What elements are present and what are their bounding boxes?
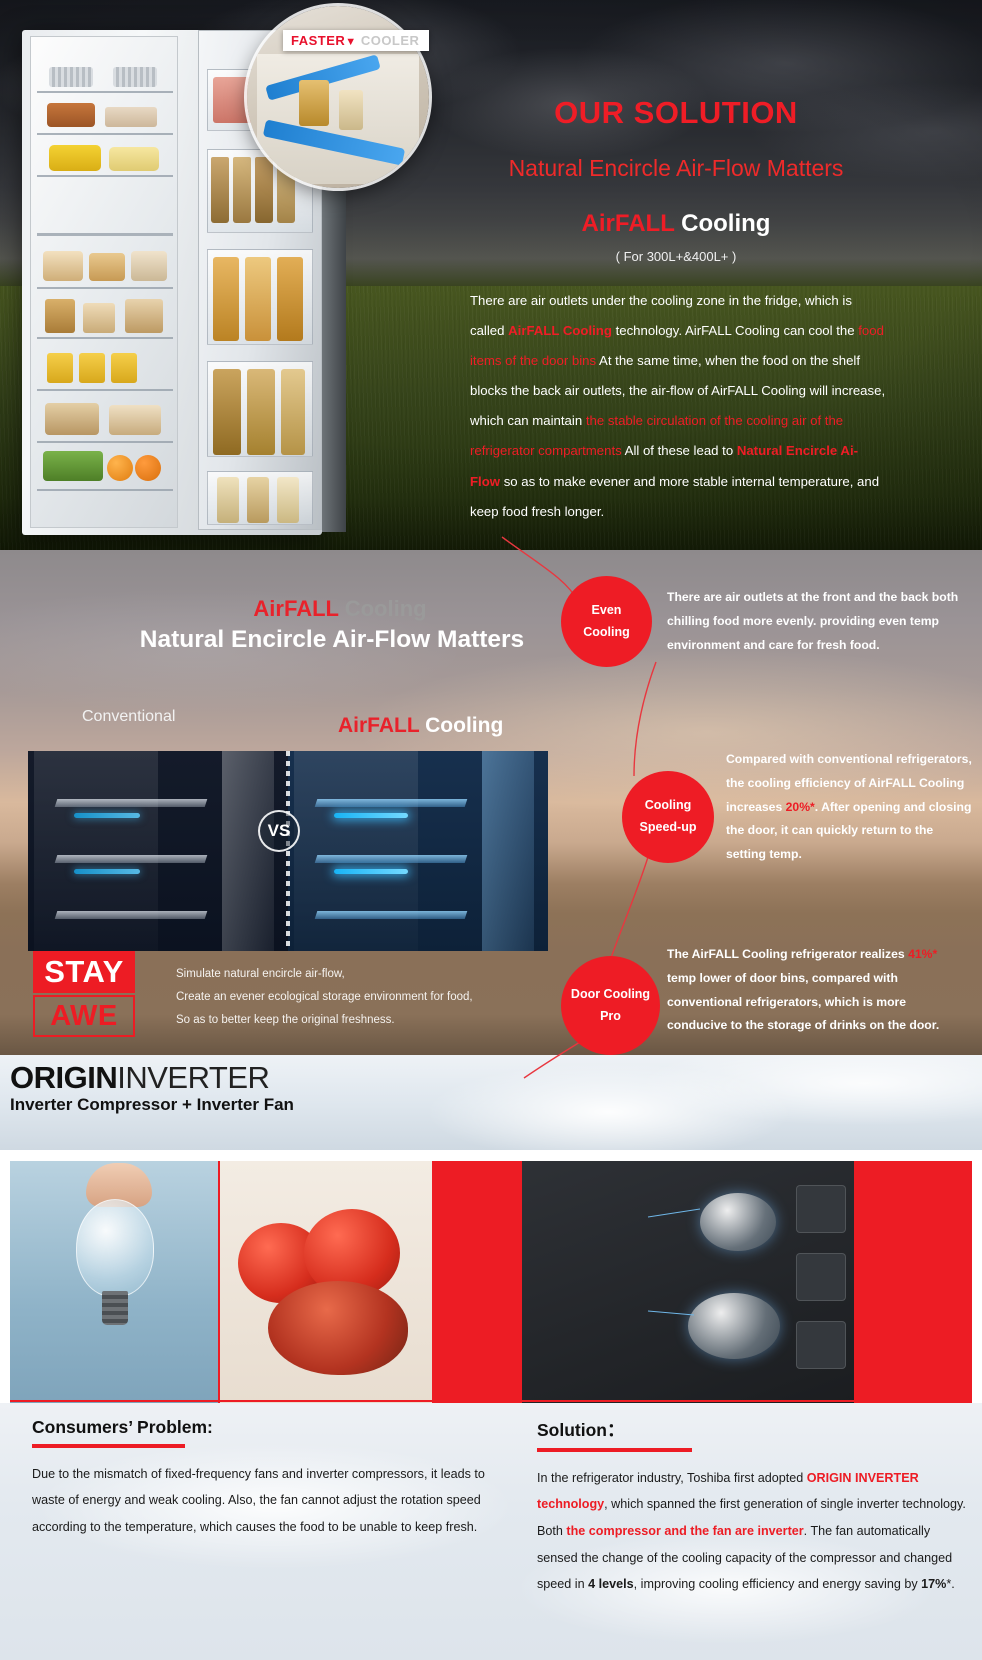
airfall-word: AirFALL: [582, 210, 675, 237]
connector-lines-diagram: [642, 1191, 782, 1351]
cooling-word: Cooling: [681, 210, 770, 237]
para-part-2: technology. AirFALL Cooling can cool the: [612, 323, 858, 338]
bottom-text-band: Consumers’ Problem: Due to the mismatch …: [0, 1403, 982, 1660]
section2-airfall-word: AirFALL: [253, 596, 338, 621]
photo-inverter-diagram: [522, 1161, 854, 1403]
stay-badge: STAY: [33, 951, 135, 993]
simulate-description: Simulate natural encircle air-flow, Crea…: [176, 963, 506, 1032]
solution-paragraph: There are air outlets under the cooling …: [470, 286, 888, 527]
red-divider-left: [434, 1161, 522, 1403]
bulb-base: [102, 1291, 128, 1325]
badge-faster-text: FASTER: [291, 33, 345, 48]
text-cooling-speedup: Compared with conventional refrigerators…: [726, 748, 976, 867]
text-door-cooling-pro: The AirFALL Cooling refrigerator realize…: [667, 943, 967, 1038]
consumers-problem-heading: Consumers’ Problem:: [32, 1417, 492, 1438]
sol-bold-2: 17%: [921, 1577, 946, 1591]
sim-line-2: Create an evener ecological storage envi…: [176, 986, 506, 1009]
solution-heading: Solution：: [537, 1417, 967, 1442]
section1-text-column: OUR SOLUTION Natural Encircle Air-Flow M…: [470, 95, 970, 527]
bubble-speed-line2: Speed-up: [640, 817, 697, 839]
photo-strip: [10, 1161, 972, 1403]
sol-part-1: In the refrigerator industry, Toshiba fi…: [537, 1471, 807, 1485]
bulb-glass: [76, 1199, 154, 1297]
bubble-door-line1: Door Cooling: [571, 984, 650, 1006]
section2-cooling-word: Cooling: [345, 596, 427, 621]
door-text-post: temp lower of door bins, compared with c…: [667, 971, 939, 1033]
section2-brand-line: AirFALL Cooling: [130, 596, 550, 622]
section-our-solution: FASTER▼ COOLER OUR SOLUTION Natural Enci…: [0, 0, 982, 550]
heading-underline-right: [537, 1448, 692, 1452]
sim-line-1: Simulate natural encircle air-flow,: [176, 963, 506, 986]
consumers-problem-body: Due to the mismatch of fixed-frequency f…: [32, 1461, 492, 1541]
bubble-even-line1: Even: [592, 600, 622, 622]
airfall-fridge-panel: [288, 751, 548, 951]
door-text-pre: The AirFALL Cooling refrigerator realize…: [667, 947, 908, 961]
bubble-even-cooling[interactable]: Even Cooling: [561, 576, 652, 667]
conventional-fridge-panel: [28, 751, 288, 951]
photo-lightbulb: [10, 1161, 218, 1403]
page-title: OUR SOLUTION: [470, 95, 882, 131]
rotten-tomato: [268, 1281, 408, 1375]
text-even-cooling: There are air outlets at the front and t…: [667, 586, 967, 657]
bubble-door-cooling-pro[interactable]: Door Cooling Pro: [561, 956, 660, 1055]
airfall-cooling-title: AirFALL Cooling: [470, 210, 882, 238]
vs-badge: VS: [258, 810, 300, 852]
red-divider-right: [854, 1161, 972, 1403]
bubble-even-line2: Cooling: [583, 622, 630, 644]
solution-body: In the refrigerator industry, Toshiba fi…: [537, 1465, 967, 1598]
awe-badge: AWE: [33, 995, 135, 1037]
sol-part-4: , improving cooling efficiency and energ…: [634, 1577, 922, 1591]
speed-text-highlight: 20%*: [786, 800, 815, 814]
refrigerator-cabinet: [30, 36, 178, 528]
para-part-5: so as to make evener and more stable int…: [470, 474, 879, 519]
para-highlight-1: AirFALL Cooling: [508, 323, 612, 338]
capacity-note: ( For 300L+&400L+ ): [470, 249, 882, 264]
inverter-word: INVERTER: [117, 1060, 269, 1095]
icon-box-fan: [796, 1321, 846, 1369]
door-text-highlight: 41%*: [908, 947, 937, 961]
comparison-divider: [286, 751, 290, 951]
photo-tomatoes: [220, 1161, 432, 1403]
para-part-4: All of these lead to: [622, 443, 737, 458]
even-text-body: There are air outlets at the front and t…: [667, 590, 958, 652]
section2-title: Natural Encircle Air-Flow Matters: [122, 626, 542, 654]
icon-box-compressor: [796, 1185, 846, 1233]
label-airfall-red: AirFALL: [338, 714, 419, 737]
bubble-speed-line1: Cooling: [645, 795, 692, 817]
page-subtitle: Natural Encircle Air-Flow Matters: [470, 155, 882, 182]
comparison-illustration: [28, 751, 548, 951]
origin-inverter-subtitle: Inverter Compressor + Inverter Fan: [10, 1095, 294, 1115]
faster-cooler-badge: FASTER▼ COOLER: [283, 30, 429, 51]
label-airfall-cooling: AirFALL Cooling: [338, 714, 503, 738]
solution-column: Solution： In the refrigerator industry, …: [537, 1403, 967, 1598]
infographic-page: FASTER▼ COOLER OUR SOLUTION Natural Enci…: [0, 0, 982, 1660]
origin-word: ORIGIN: [10, 1060, 117, 1095]
origin-inverter-title: ORIGININVERTER: [10, 1060, 269, 1096]
sol-part-5: *.: [946, 1577, 954, 1591]
heading-underline-left: [32, 1444, 185, 1448]
sol-highlight-2: the compressor and the fan are inverter: [566, 1524, 803, 1538]
bubble-door-line2: Pro: [600, 1006, 621, 1028]
label-conventional: Conventional: [82, 708, 175, 726]
label-cooling-white: Cooling: [425, 714, 503, 737]
bubble-cooling-speedup[interactable]: Cooling Speed-up: [622, 771, 714, 863]
badge-cooler-text: COOLER: [361, 33, 420, 48]
sim-line-3: So as to better keep the original freshn…: [176, 1009, 506, 1032]
down-arrow-icon: ▼: [345, 36, 356, 48]
icon-box-motor: [796, 1253, 846, 1301]
sol-bold-1: 4 levels: [588, 1577, 634, 1591]
consumers-problem-column: Consumers’ Problem: Due to the mismatch …: [32, 1403, 492, 1541]
red-separator-line: [10, 1400, 972, 1402]
